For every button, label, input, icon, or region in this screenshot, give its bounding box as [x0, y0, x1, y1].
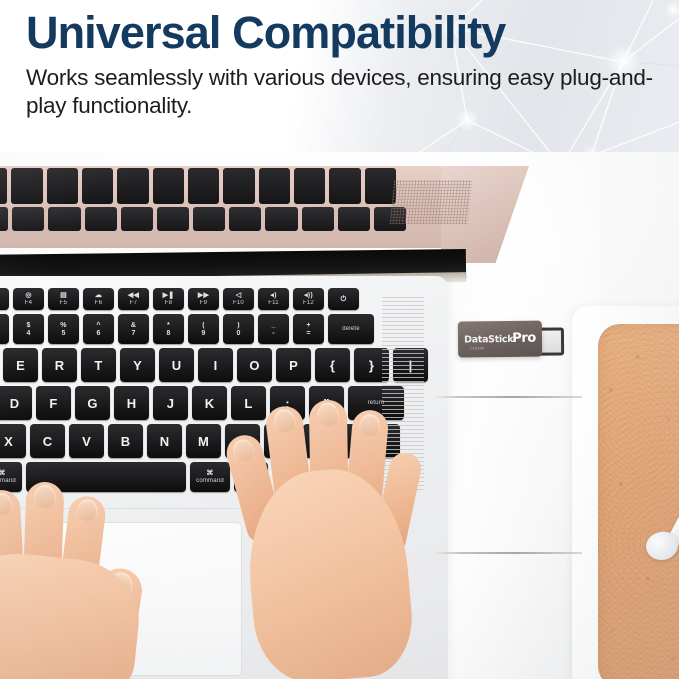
key-7[interactable]: &7: [118, 314, 149, 344]
key-f[interactable]: F: [36, 386, 71, 420]
right-hand: [222, 400, 432, 679]
keyboard-qwerty-row: W E R T Y U I O P { } |: [0, 348, 428, 382]
key-f7[interactable]: ◀◀F7: [118, 288, 149, 310]
key-e[interactable]: E: [3, 348, 38, 382]
key-t[interactable]: T: [81, 348, 116, 382]
key-i[interactable]: I: [198, 348, 233, 382]
usb-drive-label: DataStick Pro: [464, 330, 536, 346]
key-delete[interactable]: delete: [328, 314, 374, 344]
key-h[interactable]: H: [114, 386, 149, 420]
earbud-head: [643, 529, 679, 563]
cork-texture: [598, 324, 679, 679]
tray-divider-line-2: [432, 552, 582, 554]
usb-sub-text: centon: [470, 346, 485, 350]
rose-gold-laptop: [0, 166, 526, 286]
key-f5[interactable]: ▤F5: [48, 288, 79, 310]
key-f10[interactable]: ◁F10: [223, 288, 254, 310]
page-title: Universal Compatibility: [26, 10, 659, 55]
key-f4[interactable]: ◎F4: [13, 288, 44, 310]
header-band: Universal Compatibility Works seamlessly…: [0, 0, 679, 152]
key-g[interactable]: G: [75, 386, 110, 420]
key-f6[interactable]: ☁F6: [83, 288, 114, 310]
key-5[interactable]: %5: [48, 314, 79, 344]
usb-pro-text: Pro: [512, 330, 536, 345]
key-3[interactable]: #3: [0, 314, 9, 344]
key-r[interactable]: R: [42, 348, 77, 382]
usb-brand-text: DataStick: [464, 333, 513, 345]
key-f11[interactable]: ◂)F11: [258, 288, 289, 310]
desk-tray: [572, 306, 679, 679]
cork-pad: [598, 324, 679, 679]
key-u[interactable]: U: [159, 348, 194, 382]
rose-gold-laptop-speaker-grille: [390, 180, 473, 224]
key-minus[interactable]: _-: [258, 314, 289, 344]
key-9[interactable]: (9: [188, 314, 219, 344]
key-f12[interactable]: ◂))F12: [293, 288, 324, 310]
left-hand-palm: [0, 546, 145, 679]
keyboard-number-row: #3 $4 %5 ^6 &7 *8 (9 )0 _- += delete: [0, 314, 374, 344]
key-4[interactable]: $4: [13, 314, 44, 344]
key-y[interactable]: Y: [120, 348, 155, 382]
keyboard-function-row: ▦F3 ◎F4 ▤F5 ☁F6 ◀◀F7 ▶❚F8 ▶▶F9 ◁F10 ◂)F1…: [0, 288, 359, 310]
rose-gold-laptop-key-row-lower: [0, 207, 406, 231]
key-f9[interactable]: ▶▶F9: [188, 288, 219, 310]
usb-flash-drive: DataStick Pro centon: [458, 317, 558, 360]
key-f8[interactable]: ▶❚F8: [153, 288, 184, 310]
key-0[interactable]: )0: [223, 314, 254, 344]
key-6[interactable]: ^6: [83, 314, 114, 344]
key-power[interactable]: ⏻: [328, 288, 359, 310]
key-j[interactable]: J: [153, 386, 188, 420]
key-equals[interactable]: +=: [293, 314, 324, 344]
earbud: [646, 514, 679, 574]
key-8[interactable]: *8: [153, 314, 184, 344]
key-d[interactable]: D: [0, 386, 32, 420]
header-text-block: Universal Compatibility Works seamlessly…: [26, 10, 659, 120]
key-f3[interactable]: ▦F3: [0, 288, 9, 310]
product-photo: ▦F3 ◎F4 ▤F5 ☁F6 ◀◀F7 ▶❚F8 ▶▶F9 ◁F10 ◂)F1…: [0, 148, 679, 679]
product-marketing-image: Universal Compatibility Works seamlessly…: [0, 0, 679, 679]
key-p[interactable]: P: [276, 348, 311, 382]
key-bracket-left[interactable]: {: [315, 348, 350, 382]
rose-gold-laptop-key-row-upper: [0, 168, 396, 204]
tray-divider-line-1: [432, 396, 582, 398]
left-hand: [0, 448, 192, 679]
page-subtitle: Works seamlessly with various devices, e…: [26, 64, 656, 120]
usb-drive-body: DataStick Pro centon: [458, 321, 542, 358]
key-o[interactable]: O: [237, 348, 272, 382]
